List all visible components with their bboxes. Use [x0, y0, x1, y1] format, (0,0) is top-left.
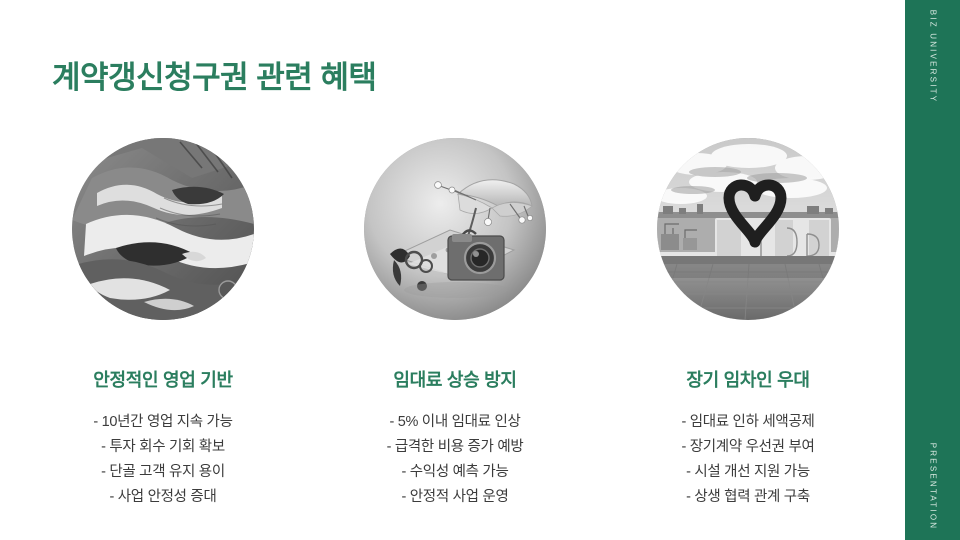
column-heading: 임대료 상승 방지: [310, 366, 600, 392]
column-heading: 장기 임차인 우대: [603, 366, 893, 392]
presentation-slide: 계약갱신청구권 관련 혜택: [0, 0, 960, 540]
column-heading: 안정적인 영업 기반: [18, 366, 308, 392]
aerial-landscape-photo: [72, 138, 254, 320]
waterfront-heart-sculpture-photo: [657, 138, 839, 320]
list-item: - 급격한 비용 증가 예방: [310, 435, 600, 460]
sidebar-brand-label: BIZ UNIVERSITY: [928, 10, 937, 103]
list-item: - 시설 개선 지원 가능: [603, 460, 893, 485]
list-item: - 단골 고객 유지 용이: [18, 460, 308, 485]
list-item: - 수익성 예측 가능: [310, 460, 600, 485]
benefit-list: - 5% 이내 임대료 인상 - 급격한 비용 증가 예방 - 수익성 예측 가…: [310, 410, 600, 510]
benefit-columns: 안정적인 영업 기반 - 10년간 영업 지속 가능 - 투자 회수 기회 확보…: [0, 0, 905, 540]
list-item: - 상생 협력 관계 구축: [603, 485, 893, 510]
list-item: - 10년간 영업 지속 가능: [18, 410, 308, 435]
sidebar-section-label: PRESENTATION: [928, 443, 937, 530]
benefit-list: - 임대료 인하 세액공제 - 장기계약 우선권 부여 - 시설 개선 지원 가…: [603, 410, 893, 510]
benefit-column: 안정적인 영업 기반 - 10년간 영업 지속 가능 - 투자 회수 기회 확보…: [18, 138, 308, 510]
list-item: - 5% 이내 임대료 인상: [310, 410, 600, 435]
list-item: - 임대료 인하 세액공제: [603, 410, 893, 435]
benefit-column: 장기 임차인 우대 - 임대료 인하 세액공제 - 장기계약 우선권 부여 - …: [603, 138, 893, 510]
benefit-list: - 10년간 영업 지속 가능 - 투자 회수 기회 확보 - 단골 고객 유지…: [18, 410, 308, 510]
camera-umbrella-stilllife-photo: [364, 138, 546, 320]
benefit-column: 임대료 상승 방지 - 5% 이내 임대료 인상 - 급격한 비용 증가 예방 …: [310, 138, 600, 510]
list-item: - 장기계약 우선권 부여: [603, 435, 893, 460]
list-item: - 사업 안정성 증대: [18, 485, 308, 510]
list-item: - 안정적 사업 운영: [310, 485, 600, 510]
brand-sidebar: BIZ UNIVERSITY PRESENTATION: [905, 0, 960, 540]
list-item: - 투자 회수 기회 확보: [18, 435, 308, 460]
